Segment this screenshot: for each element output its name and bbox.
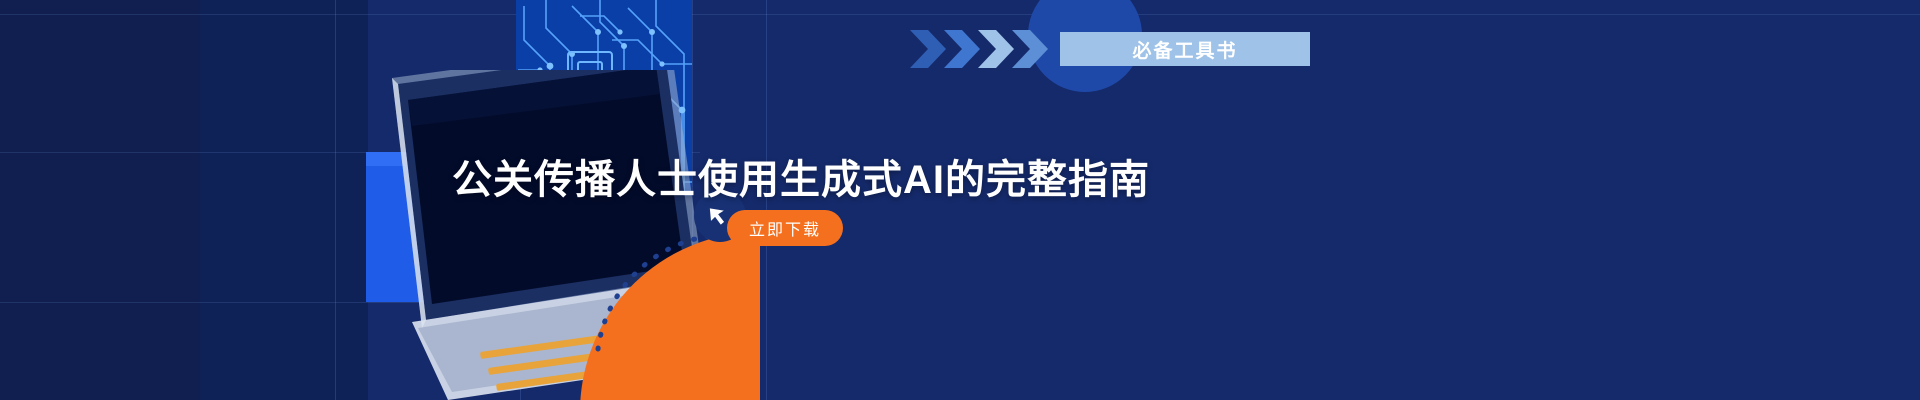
badge-label: 必备工具书 — [1060, 32, 1310, 66]
download-now-button[interactable]: 立即下载 — [727, 210, 843, 246]
chevron-arrows-decoration — [908, 28, 1068, 70]
chevron-right-icon — [910, 30, 1048, 68]
grid-line-horizontal — [0, 14, 1920, 15]
far-left-panel — [0, 0, 200, 400]
promo-banner: 立即下载 公关传播人士使用生成式AI的完整指南 必备工具书 — [0, 0, 1920, 400]
grid-line-vertical — [335, 0, 336, 400]
page-title: 公关传播人士使用生成式AI的完整指南 — [452, 147, 1150, 205]
